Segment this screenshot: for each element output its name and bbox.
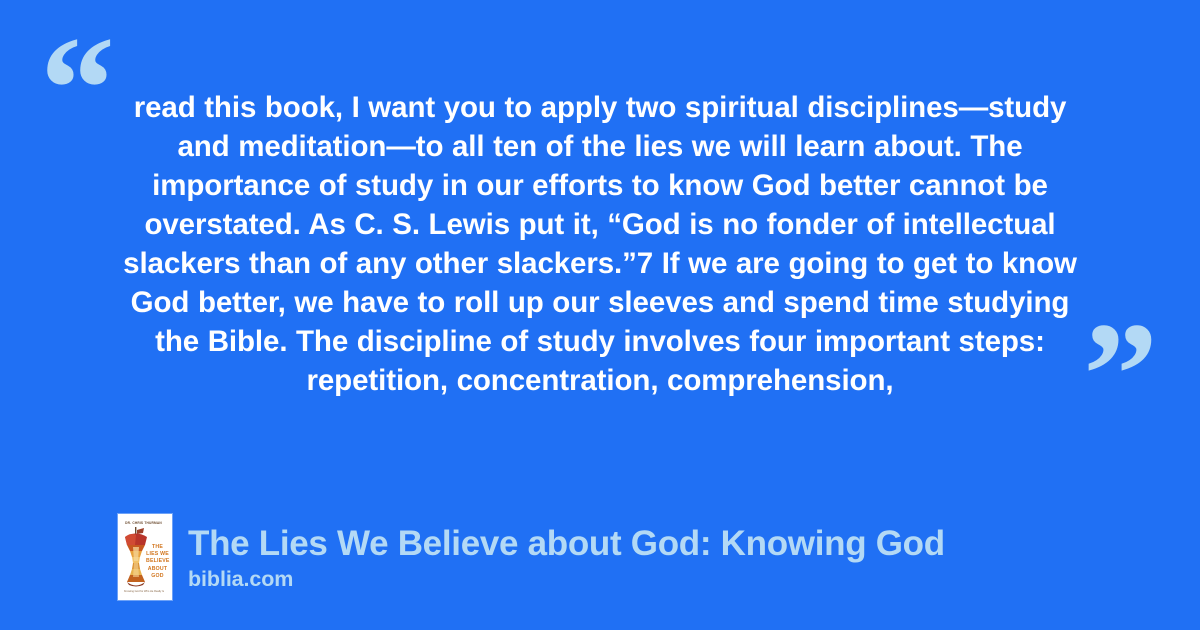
opening-quote-icon: “ xyxy=(40,14,115,164)
footer-text-group: The Lies We Believe about God: Knowing G… xyxy=(188,523,945,592)
cover-title-text: THE LIES WE BELIEVE ABOUT GOD xyxy=(146,544,169,580)
attribution-footer: DR. CHRIS THURMAN THE LIES WE BELIEV xyxy=(118,514,945,600)
closing-quote-icon: ” xyxy=(1083,300,1158,450)
cover-title-line-2: LIES WE xyxy=(146,551,169,558)
quote-text: read this book, I want you to apply two … xyxy=(118,88,1082,400)
site-name: biblia.com xyxy=(188,566,945,592)
cover-title-line-4: ABOUT xyxy=(146,566,169,573)
cover-subtitle: Knowing God for Who He Really Is xyxy=(118,590,170,594)
book-title: The Lies We Believe about God: Knowing G… xyxy=(188,523,945,564)
cover-title-line-3: BELIEVE xyxy=(146,558,169,565)
quote-card: “ read this book, I want you to apply tw… xyxy=(0,0,1200,630)
cover-title-line-1: THE xyxy=(146,544,169,551)
cover-title-line-5: GOD xyxy=(146,573,169,580)
cover-author-name: DR. CHRIS THURMAN xyxy=(118,521,169,525)
book-cover-thumbnail: DR. CHRIS THURMAN THE LIES WE BELIEV xyxy=(118,514,172,600)
